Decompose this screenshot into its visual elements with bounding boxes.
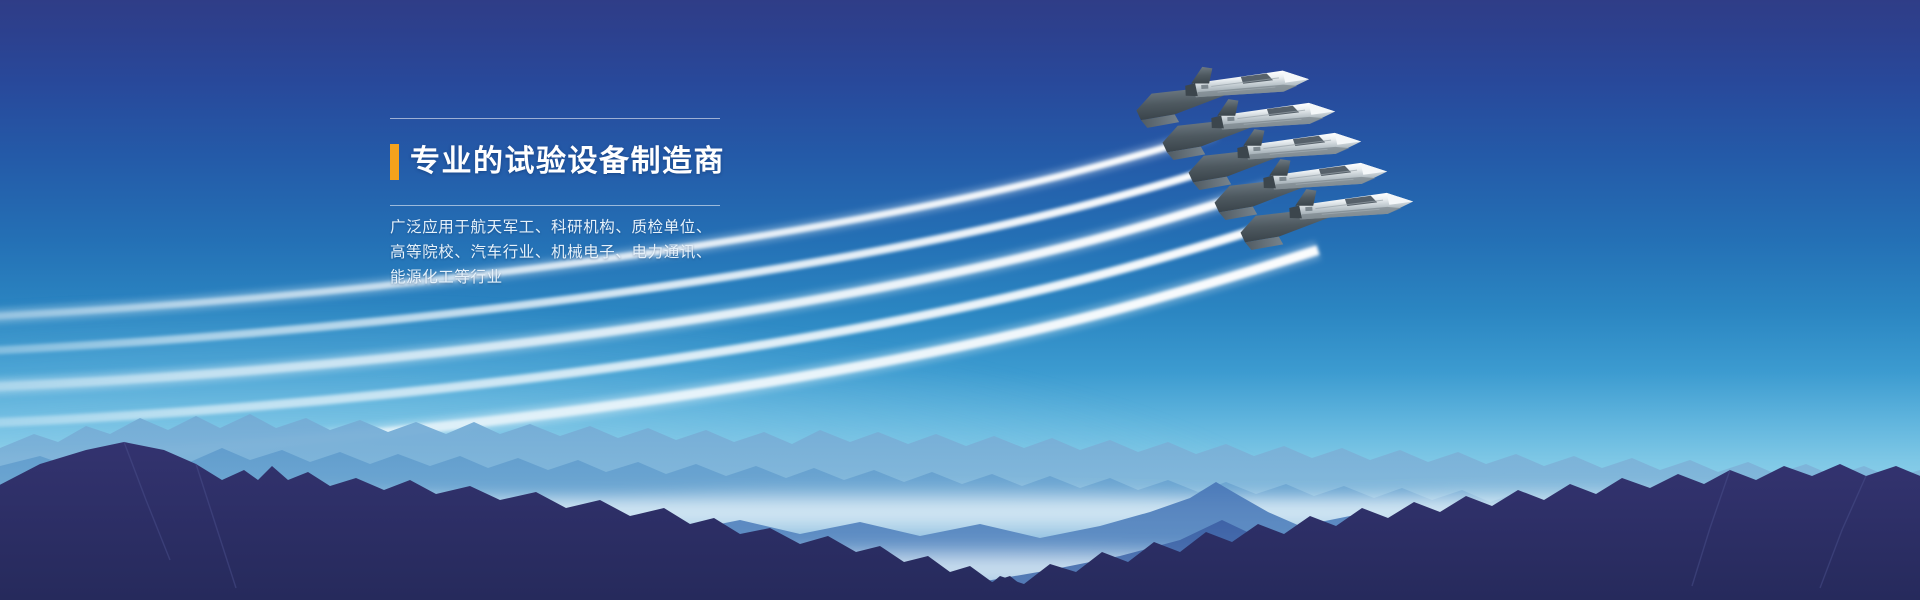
headline-row: 专业的试验设备制造商 [390, 119, 750, 205]
fighter-jet-formation [1100, 30, 1520, 280]
page-title: 专业的试验设备制造商 [410, 146, 725, 178]
hero-banner: 专业的试验设备制造商 广泛应用于航天军工、科研机构、质检单位、 高等院校、汽车行… [0, 0, 1920, 600]
banner-subtitle: 广泛应用于航天军工、科研机构、质检单位、 高等院校、汽车行业、机械电子、电力通讯… [390, 206, 750, 290]
subtitle-line-3: 能源化工等行业 [390, 265, 750, 290]
vertical-accent-bar-icon [390, 144, 399, 180]
subtitle-line-1: 广泛应用于航天军工、科研机构、质检单位、 [390, 215, 750, 240]
jet-aircraft [1134, 61, 1415, 250]
mountain-range-silhouette [0, 330, 1920, 600]
subtitle-line-2: 高等院校、汽车行业、机械电子、电力通讯、 [390, 240, 750, 265]
banner-copy-block: 专业的试验设备制造商 广泛应用于航天军工、科研机构、质检单位、 高等院校、汽车行… [390, 118, 750, 290]
